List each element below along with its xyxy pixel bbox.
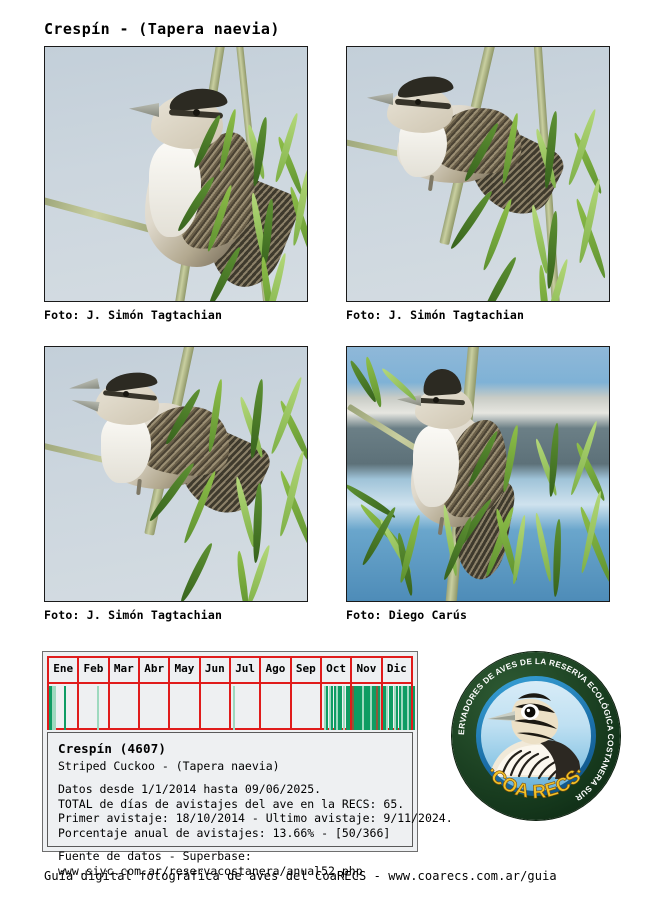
- leaf-spray: [487, 107, 610, 302]
- coarecs-logo[interactable]: CLUB DE OBSERVADORES DE AVES DE LA RESER…: [452, 652, 620, 820]
- photo-top-left[interactable]: [44, 46, 308, 302]
- calendar-month-nov: Nov: [352, 658, 382, 682]
- sighting-bar: [233, 686, 235, 730]
- bird-eye: [415, 99, 421, 105]
- calendar-month-header: EneFebMarAbrMayJunJulAgoSepOctNovDic: [47, 658, 413, 682]
- sighting-bar: [413, 686, 415, 730]
- calendar-month-sep: Sep: [292, 658, 322, 682]
- stat-line: Primer avistaje: 18/10/2014 - Ultimo avi…: [58, 811, 402, 826]
- photo-caption: Foto: J. Simón Tagtachian: [44, 308, 308, 322]
- species-info-box: Crespín (4607) Striped Cuckoo - (Tapera …: [47, 732, 413, 847]
- sighting-bar: [54, 686, 56, 730]
- calendar-month-abr: Abr: [140, 658, 170, 682]
- bird-eye: [123, 391, 129, 397]
- photo-caption: Foto: J. Simón Tagtachian: [44, 608, 308, 622]
- calendar-month-dic: Dic: [383, 658, 413, 682]
- statistics-block: Datos desde 1/1/2014 hasta 09/06/2025. T…: [58, 782, 402, 840]
- calendar-bars-row: [47, 682, 413, 730]
- bird-eye: [193, 109, 200, 116]
- photo-cell-top-right: Foto: J. Simón Tagtachian: [346, 46, 610, 322]
- calendar-month-ago: Ago: [261, 658, 291, 682]
- photo-caption: Foto: Diego Carús: [346, 608, 610, 622]
- species-english-name: Striped Cuckoo - (Tapera naevia): [58, 759, 402, 773]
- stat-line: TOTAL de días de avistajes del ave en la…: [58, 797, 402, 812]
- calendar-month-ene: Ene: [47, 658, 79, 682]
- guide-page: Crespín - (Tapera naevia): [0, 0, 660, 910]
- logo-disc: [481, 681, 591, 791]
- sighting-bar: [64, 686, 66, 730]
- sighting-bars: [47, 684, 413, 730]
- calendar-month-oct: Oct: [322, 658, 352, 682]
- logo-bird-icon: [481, 681, 591, 791]
- calendar-month-jul: Jul: [231, 658, 261, 682]
- bird-beak: [129, 103, 159, 117]
- photo-bottom-right[interactable]: [346, 346, 610, 602]
- photo-cell-top-left: Foto: J. Simón Tagtachian: [44, 46, 308, 322]
- page-footer: Guía digital fotográfica de aves del Coa…: [44, 869, 557, 883]
- page-title: Crespín - (Tapera naevia): [44, 20, 280, 38]
- leaf-spray-bottom: [387, 497, 567, 602]
- photo-caption: Foto: J. Simón Tagtachian: [346, 308, 610, 322]
- leaf-spray: [187, 377, 308, 602]
- sightings-calendar-panel: EneFebMarAbrMayJunJulAgoSepOctNovDic Cre…: [42, 651, 418, 852]
- photo-cell-bottom-left: Foto: J. Simón Tagtachian: [44, 346, 308, 622]
- photo-cell-bottom-right: Foto: Diego Carús: [346, 346, 610, 622]
- source-label: Fuente de datos - Superbase:: [58, 849, 402, 864]
- stat-line: Porcentaje anual de avistajes: 13.66% - …: [58, 826, 402, 841]
- bird-eye: [433, 397, 439, 403]
- photo-bottom-left[interactable]: [44, 346, 308, 602]
- stat-line: Datos desde 1/1/2014 hasta 09/06/2025.: [58, 782, 402, 797]
- calendar-month-feb: Feb: [79, 658, 109, 682]
- calendar-grid: EneFebMarAbrMayJunJulAgoSepOctNovDic: [47, 656, 413, 730]
- bird-crown: [168, 86, 228, 112]
- species-name: Crespín (4607): [58, 741, 402, 756]
- calendar-month-mar: Mar: [110, 658, 140, 682]
- bird-legs: [136, 479, 142, 495]
- bird-legs: [428, 175, 434, 191]
- calendar-month-may: May: [170, 658, 200, 682]
- bird-crest: [422, 368, 462, 397]
- sighting-bar: [97, 686, 99, 730]
- photo-top-right[interactable]: [346, 46, 610, 302]
- calendar-month-jun: Jun: [201, 658, 231, 682]
